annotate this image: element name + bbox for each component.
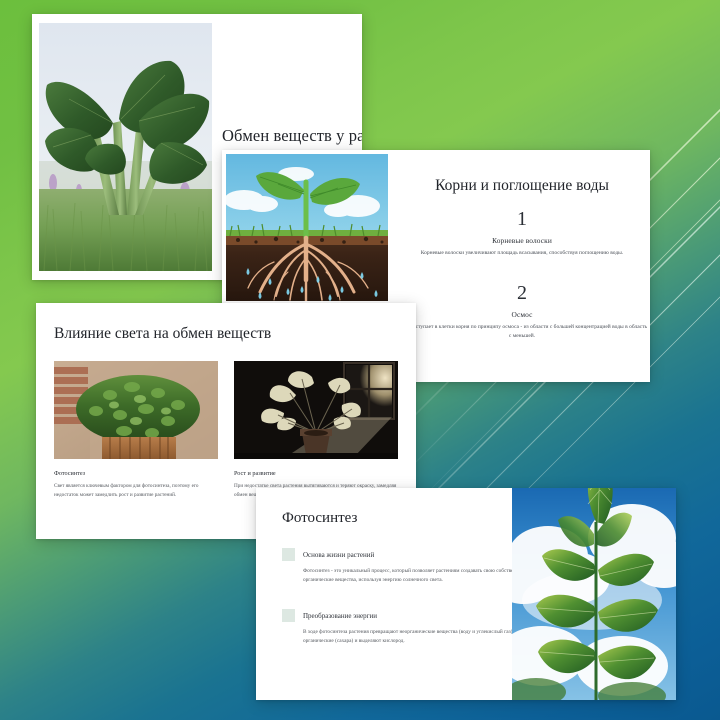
- bullet-title: Основа жизни растений: [303, 551, 374, 559]
- item-subtitle: Осмос: [396, 310, 648, 319]
- item-description: Корневые волоски увеличивают площадь вса…: [396, 249, 648, 258]
- light-column-1: Фотосинтез Свет является ключевым фактор…: [54, 361, 218, 500]
- light-column-2: Рост и развитие При недостатке света рас…: [234, 361, 398, 500]
- column-caption-text: Свет является ключевым фактором для фото…: [54, 482, 218, 500]
- item-number: 2: [396, 282, 648, 304]
- leaf-branch-sky-illustration: [512, 488, 676, 700]
- bullet-item-1: Основа жизни растений Фотосинтез - это у…: [282, 548, 544, 586]
- numbered-item-1: 1 Корневые волоски Корневые волоски увел…: [396, 208, 648, 258]
- seedling-roots-illustration: [226, 154, 388, 301]
- bullet-text: В ходе фотосинтеза растения превращают н…: [303, 628, 544, 647]
- item-description: Вода поступает в клетки корня по принцип…: [396, 323, 648, 341]
- bullet-text: Фотосинтез - это уникальный процесс, кот…: [303, 567, 544, 586]
- bullet-chip-icon: [282, 548, 295, 561]
- column-caption-title: Рост и развитие: [234, 470, 398, 477]
- item-subtitle: Корневые волоски: [396, 236, 648, 245]
- dark-potted-plant-window-photo: [234, 361, 398, 459]
- succulent-planter-photo: [54, 361, 218, 459]
- bullet-item-2: Преобразование энергии В ходе фотосинтез…: [282, 609, 544, 647]
- bullet-title: Преобразование энергии: [303, 612, 377, 620]
- slide3-title: Влияние света на обмен веществ: [54, 325, 271, 343]
- column-caption-title: Фотосинтез: [54, 470, 218, 477]
- numbered-item-2: 2 Осмос Вода поступает в клетки корня по…: [396, 282, 648, 341]
- item-number: 1: [396, 208, 648, 230]
- slide-card-photosynthesis[interactable]: Фотосинтез Основа жизни растений Фотосин…: [256, 488, 676, 700]
- slide2-title: Корни и поглощение воды: [397, 177, 647, 195]
- slide1-title: Обмен веществ у растений: [222, 126, 362, 146]
- bullet-chip-icon: [282, 609, 295, 622]
- slide4-title: Фотосинтез: [282, 510, 357, 527]
- broadleaf-plant-photo: [39, 23, 212, 271]
